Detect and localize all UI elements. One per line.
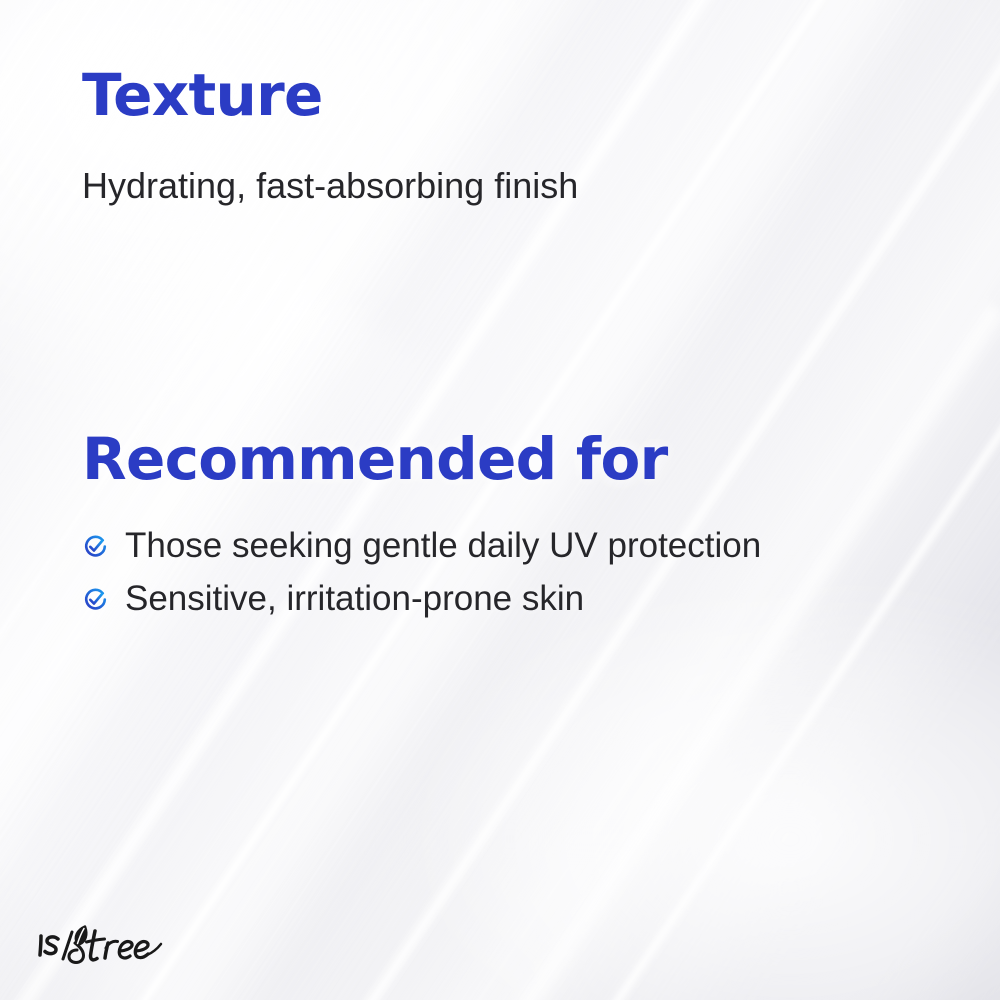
recommended-heading: Recommended for (82, 430, 761, 488)
texture-subtitle: Hydrating, fast-absorbing finish (82, 166, 578, 206)
section-texture: Texture Hydrating, fast-absorbing finish (82, 66, 578, 206)
section-recommended-for: Recommended for T (82, 430, 761, 618)
check-circle-icon (82, 586, 109, 613)
list-item-label: Those seeking gentle daily UV protection (125, 528, 761, 565)
check-circle-icon (82, 533, 109, 560)
content-layer: Texture Hydrating, fast-absorbing finish… (0, 0, 1000, 1000)
brand-logo (38, 918, 174, 970)
list-item: Those seeking gentle daily UV protection (82, 528, 761, 565)
list-item: Sensitive, irritation-prone skin (82, 581, 761, 618)
list-item-label: Sensitive, irritation-prone skin (125, 581, 584, 618)
product-detail-card: Texture Hydrating, fast-absorbing finish… (0, 0, 1000, 1000)
recommended-bullet-list: Those seeking gentle daily UV protection (82, 528, 761, 618)
texture-heading: Texture (82, 66, 578, 124)
isntree-wordmark (38, 920, 174, 970)
